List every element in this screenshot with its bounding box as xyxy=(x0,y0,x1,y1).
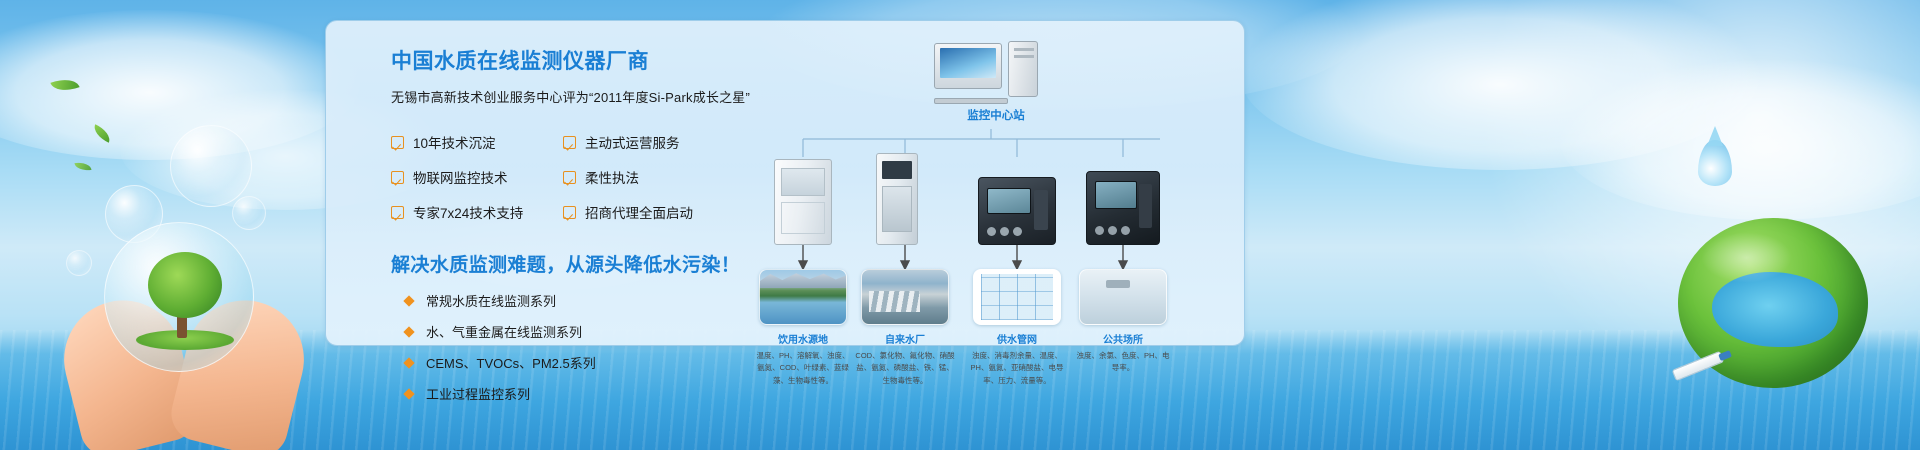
water-plant-photo xyxy=(861,269,949,325)
device-screen xyxy=(987,188,1031,214)
checkbox-checked-icon xyxy=(391,206,404,219)
tap-water-photo xyxy=(1079,269,1167,325)
system-topology-diagram: 监控中心站 xyxy=(756,37,1226,337)
feature-item: 物联网监控技术 xyxy=(391,167,563,187)
feature-item: 柔性执法 xyxy=(563,167,735,187)
scene-card[interactable]: 自来水厂 COD、氯化物、氟化物、硝酸盐、氨氮、磷酸盐、铁、锰、生物毒性等。 xyxy=(861,269,949,387)
feature-item: 10年技术沉淀 xyxy=(391,132,563,152)
product-line-label: 工业过程监控系列 xyxy=(426,384,530,403)
feature-label: 柔性执法 xyxy=(585,167,639,187)
scene-desc: 浊度、余氯、色度、PH、电导率。 xyxy=(1073,350,1173,375)
checkbox-checked-icon xyxy=(563,171,576,184)
earth-shine xyxy=(1701,232,1792,283)
cloud xyxy=(1240,0,1760,170)
scene-card[interactable]: 供水管网 浊度、消毒剂余量、温度、PH、氨氮、亚硝酸盐、电导率、压力、流量等。 xyxy=(973,269,1061,387)
center-station-label: 监控中心站 xyxy=(906,107,1086,123)
scene-desc: COD、氯化物、氟化物、硝酸盐、氨氮、磷酸盐、铁、锰、生物毒性等。 xyxy=(855,350,955,387)
product-line-item: 水、气重金属在线监测系列 xyxy=(391,322,751,341)
feature-label: 10年技术沉淀 xyxy=(413,132,496,152)
checkbox-checked-icon xyxy=(391,171,404,184)
hands-holding-tree-icon xyxy=(60,220,320,450)
content-panel: 中国水质在线监测仪器厂商 无锡市高新技术创业服务中心评为“2011年度Si-Pa… xyxy=(325,20,1245,346)
diamond-bullet-icon xyxy=(403,357,414,368)
page-subtitle: 无锡市高新技术创业服务中心评为“2011年度Si-Park成长之星” xyxy=(391,87,751,106)
device-row xyxy=(756,145,1226,245)
product-line-list: 常规水质在线监测系列 水、气重金属在线监测系列 CEMS、TVOCs、PM2.5… xyxy=(391,291,751,403)
scene-title: 公共场所 xyxy=(1079,331,1167,346)
product-line-label: 水、气重金属在线监测系列 xyxy=(426,322,582,341)
scene-title: 供水管网 xyxy=(973,331,1061,346)
feature-label: 招商代理全面启动 xyxy=(585,202,693,222)
controller-device-1 xyxy=(978,177,1056,245)
scene-card[interactable]: 饮用水源地 温度、PH、溶解氧、浊度、氨氮、COD、叶绿素、蓝绿藻、生物毒性等。 xyxy=(759,269,847,387)
product-line-label: 常规水质在线监测系列 xyxy=(426,291,556,310)
river-source-photo xyxy=(759,269,847,325)
leaf-icon xyxy=(74,161,91,172)
diamond-bullet-icon xyxy=(403,295,414,306)
bubble-icon xyxy=(170,125,252,207)
cloud xyxy=(1560,60,1920,220)
product-line-item: 工业过程监控系列 xyxy=(391,384,751,403)
diamond-bullet-icon xyxy=(403,326,414,337)
earth-water xyxy=(1712,272,1837,347)
water-cabinet-device xyxy=(774,159,832,245)
feature-label: 物联网监控技术 xyxy=(413,167,508,187)
device-screen xyxy=(1095,181,1137,209)
device-side-panel xyxy=(1139,184,1152,228)
page-title: 中国水质在线监测仪器厂商 xyxy=(391,45,751,75)
device-buttons xyxy=(987,227,1022,236)
monitor xyxy=(934,43,1002,89)
leaf-icon xyxy=(50,74,79,96)
feature-label: 主动式运营服务 xyxy=(585,132,680,152)
device-buttons xyxy=(1095,226,1130,235)
checkbox-checked-icon xyxy=(391,136,404,149)
feature-list: 10年技术沉淀 主动式运营服务 物联网监控技术 柔性执法 专家7x24技术支持 … xyxy=(391,132,751,222)
feature-item: 专家7x24技术支持 xyxy=(391,202,563,222)
feature-item: 主动式运营服务 xyxy=(563,132,735,152)
monitor-base xyxy=(934,98,1008,104)
product-line-item: CEMS、TVOCs、PM2.5系列 xyxy=(391,353,751,372)
controller-device-2 xyxy=(1086,171,1160,245)
text-column: 中国水质在线监测仪器厂商 无锡市高新技术创业服务中心评为“2011年度Si-Pa… xyxy=(391,45,751,403)
desktop-computer-icon xyxy=(934,43,1054,99)
product-line-label: CEMS、TVOCs、PM2.5系列 xyxy=(426,353,596,372)
feature-item: 招商代理全面启动 xyxy=(563,202,735,222)
pipe-network-photo xyxy=(973,269,1061,325)
device-side-panel xyxy=(1034,190,1048,230)
diamond-bullet-icon xyxy=(403,388,414,399)
computer-tower xyxy=(1008,41,1038,97)
checkbox-checked-icon xyxy=(563,136,576,149)
section-title: 解决水质监测难题，从源头降低水污染！ xyxy=(391,250,751,277)
checkbox-checked-icon xyxy=(563,206,576,219)
water-droplet-icon xyxy=(1698,140,1732,186)
scene-desc: 浊度、消毒剂余量、温度、PH、氨氮、亚硝酸盐、电导率、压力、流量等。 xyxy=(967,350,1067,387)
analyzer-rack-device xyxy=(876,153,918,245)
leaf-icon xyxy=(91,124,114,142)
feature-label: 专家7x24技术支持 xyxy=(413,202,523,222)
scene-card[interactable]: 公共场所 浊度、余氯、色度、PH、电导率。 xyxy=(1079,269,1167,375)
scene-title: 自来水厂 xyxy=(861,331,949,346)
product-line-item: 常规水质在线监测系列 xyxy=(391,291,751,310)
scene-desc: 温度、PH、溶解氧、浊度、氨氮、COD、叶绿素、蓝绿藻、生物毒性等。 xyxy=(753,350,853,387)
scene-title: 饮用水源地 xyxy=(759,331,847,346)
tree-crown xyxy=(148,252,222,318)
monitor-screen xyxy=(940,48,996,78)
